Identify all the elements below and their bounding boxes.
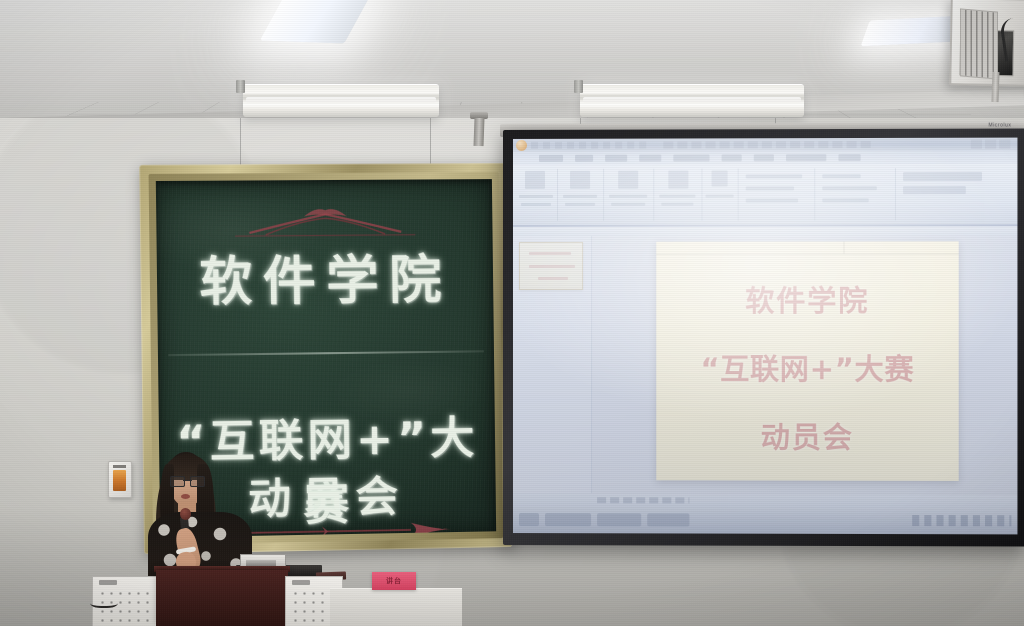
hanging-fluorescent-left: [243, 84, 439, 117]
ribbon[interactable]: [513, 164, 1017, 227]
hanging-fluorescent-right: [580, 84, 804, 117]
ribbon-label: [519, 195, 553, 198]
ribbon-group[interactable]: [605, 169, 654, 221]
slide-line-2: “互联网+”大赛: [656, 346, 958, 388]
quick-access-toolbar[interactable]: [531, 142, 651, 149]
ceiling-bracket: [474, 118, 485, 146]
projector-vent-grille: [960, 8, 998, 79]
ribbon-tab[interactable]: [722, 154, 742, 161]
ribbon-button[interactable]: [712, 170, 728, 186]
wooden-podium: [156, 570, 288, 626]
taskbar-start-button[interactable]: [519, 513, 539, 526]
glasses-icon: [170, 476, 205, 485]
ribbon-group[interactable]: [559, 169, 604, 221]
status-text: [597, 497, 689, 503]
projector-arm: [991, 72, 999, 102]
wall-switch-panel[interactable]: [108, 461, 132, 498]
window-control-buttons[interactable]: [971, 140, 1014, 149]
taskbar-item[interactable]: [647, 513, 689, 526]
ribbon-combobox[interactable]: [903, 172, 982, 181]
blackboard-headline: 软件学院: [157, 237, 494, 316]
ribbon-combobox[interactable]: [903, 186, 966, 194]
ribbon-group[interactable]: [703, 168, 738, 220]
ppt-window-title: [663, 141, 874, 149]
speaker-badge: [292, 580, 310, 585]
windows-taskbar[interactable]: [513, 507, 1017, 534]
classroom-photo: 软件学院 “互联网+”大赛 动员会 Microlux: [0, 0, 1024, 626]
ribbon-option[interactable]: [822, 174, 860, 178]
ribbon-group[interactable]: [655, 169, 702, 221]
thumb-text-line: [529, 265, 575, 268]
ribbon-group[interactable]: [517, 169, 558, 221]
glasses-lens-right: [190, 476, 205, 487]
slide-canvas[interactable]: 软件学院 “互联网+”大赛 动员会: [656, 241, 958, 481]
ribbon-option[interactable]: [822, 198, 868, 202]
ribbon-tab-active[interactable]: [673, 154, 709, 161]
ribbon-label: [563, 195, 597, 198]
mouth: [181, 494, 190, 499]
ribbon-label: [705, 195, 733, 198]
ribbon-option[interactable]: [822, 186, 877, 190]
ribbon-tab[interactable]: [539, 155, 563, 162]
slide-placeholder-border: [656, 241, 958, 254]
ribbon-label: [609, 195, 647, 198]
recessed-ceiling-tube-right-icon: [861, 16, 964, 47]
ribbon-tab[interactable]: [754, 154, 774, 161]
ppt-ruler: [513, 226, 1017, 236]
thumb-text-line: [538, 277, 568, 280]
red-flourish-banner-icon: [229, 204, 422, 240]
speaker-badge: [99, 580, 117, 585]
slide-line-1: 软件学院: [656, 278, 958, 320]
ribbon-tab[interactable]: [838, 154, 860, 161]
ppt-status-bar: [513, 494, 1017, 508]
ribbon-option[interactable]: [746, 198, 798, 202]
ribbon-button[interactable]: [618, 171, 638, 189]
ribbon-tab[interactable]: [605, 155, 627, 162]
ribbon-option[interactable]: [746, 186, 794, 190]
pink-desk-sign-label: 讲台: [386, 576, 402, 586]
pink-desk-sign: 讲台: [372, 572, 416, 590]
ribbon-label: [521, 203, 551, 206]
power-cable: [90, 596, 118, 608]
slide-thumbnail-pane[interactable]: [513, 236, 592, 493]
ribbon-label: [565, 203, 595, 206]
ribbon-group[interactable]: [818, 168, 896, 220]
screen-surface: 软件学院 “互联网+”大赛 动员会: [513, 138, 1017, 535]
ribbon-group[interactable]: [899, 168, 1010, 221]
ribbon-tab[interactable]: [575, 155, 593, 162]
slide-line-3: 动员会: [656, 414, 958, 457]
slide-thumbnail[interactable]: [519, 242, 583, 290]
ribbon-label: [611, 203, 645, 206]
ribbon-label: [659, 195, 695, 198]
fixture-hook: [236, 80, 245, 93]
ribbon-label: [661, 203, 693, 206]
office-orb-icon[interactable]: [516, 140, 527, 151]
wall-switch-button[interactable]: [113, 470, 126, 491]
thumb-text-line: [529, 252, 571, 255]
projection-screen: Microlux: [503, 128, 1024, 546]
ribbon-button[interactable]: [525, 171, 545, 189]
ribbon-option[interactable]: [746, 174, 802, 178]
ribbon-group[interactable]: [742, 168, 816, 220]
wall-switch-label: [113, 465, 126, 468]
taskbar-item[interactable]: [597, 513, 641, 526]
ribbon-tab[interactable]: [639, 155, 661, 162]
fixture-hook: [574, 80, 583, 93]
taskbar-item[interactable]: [545, 513, 591, 526]
front-table: [330, 588, 462, 626]
ribbon-tab-strip[interactable]: [513, 151, 1017, 165]
ribbon-button[interactable]: [668, 171, 688, 189]
taskbar-system-tray[interactable]: [912, 515, 1011, 526]
glasses-lens-left: [170, 476, 185, 487]
ribbon-tab[interactable]: [786, 154, 826, 161]
ribbon-button[interactable]: [570, 171, 590, 189]
